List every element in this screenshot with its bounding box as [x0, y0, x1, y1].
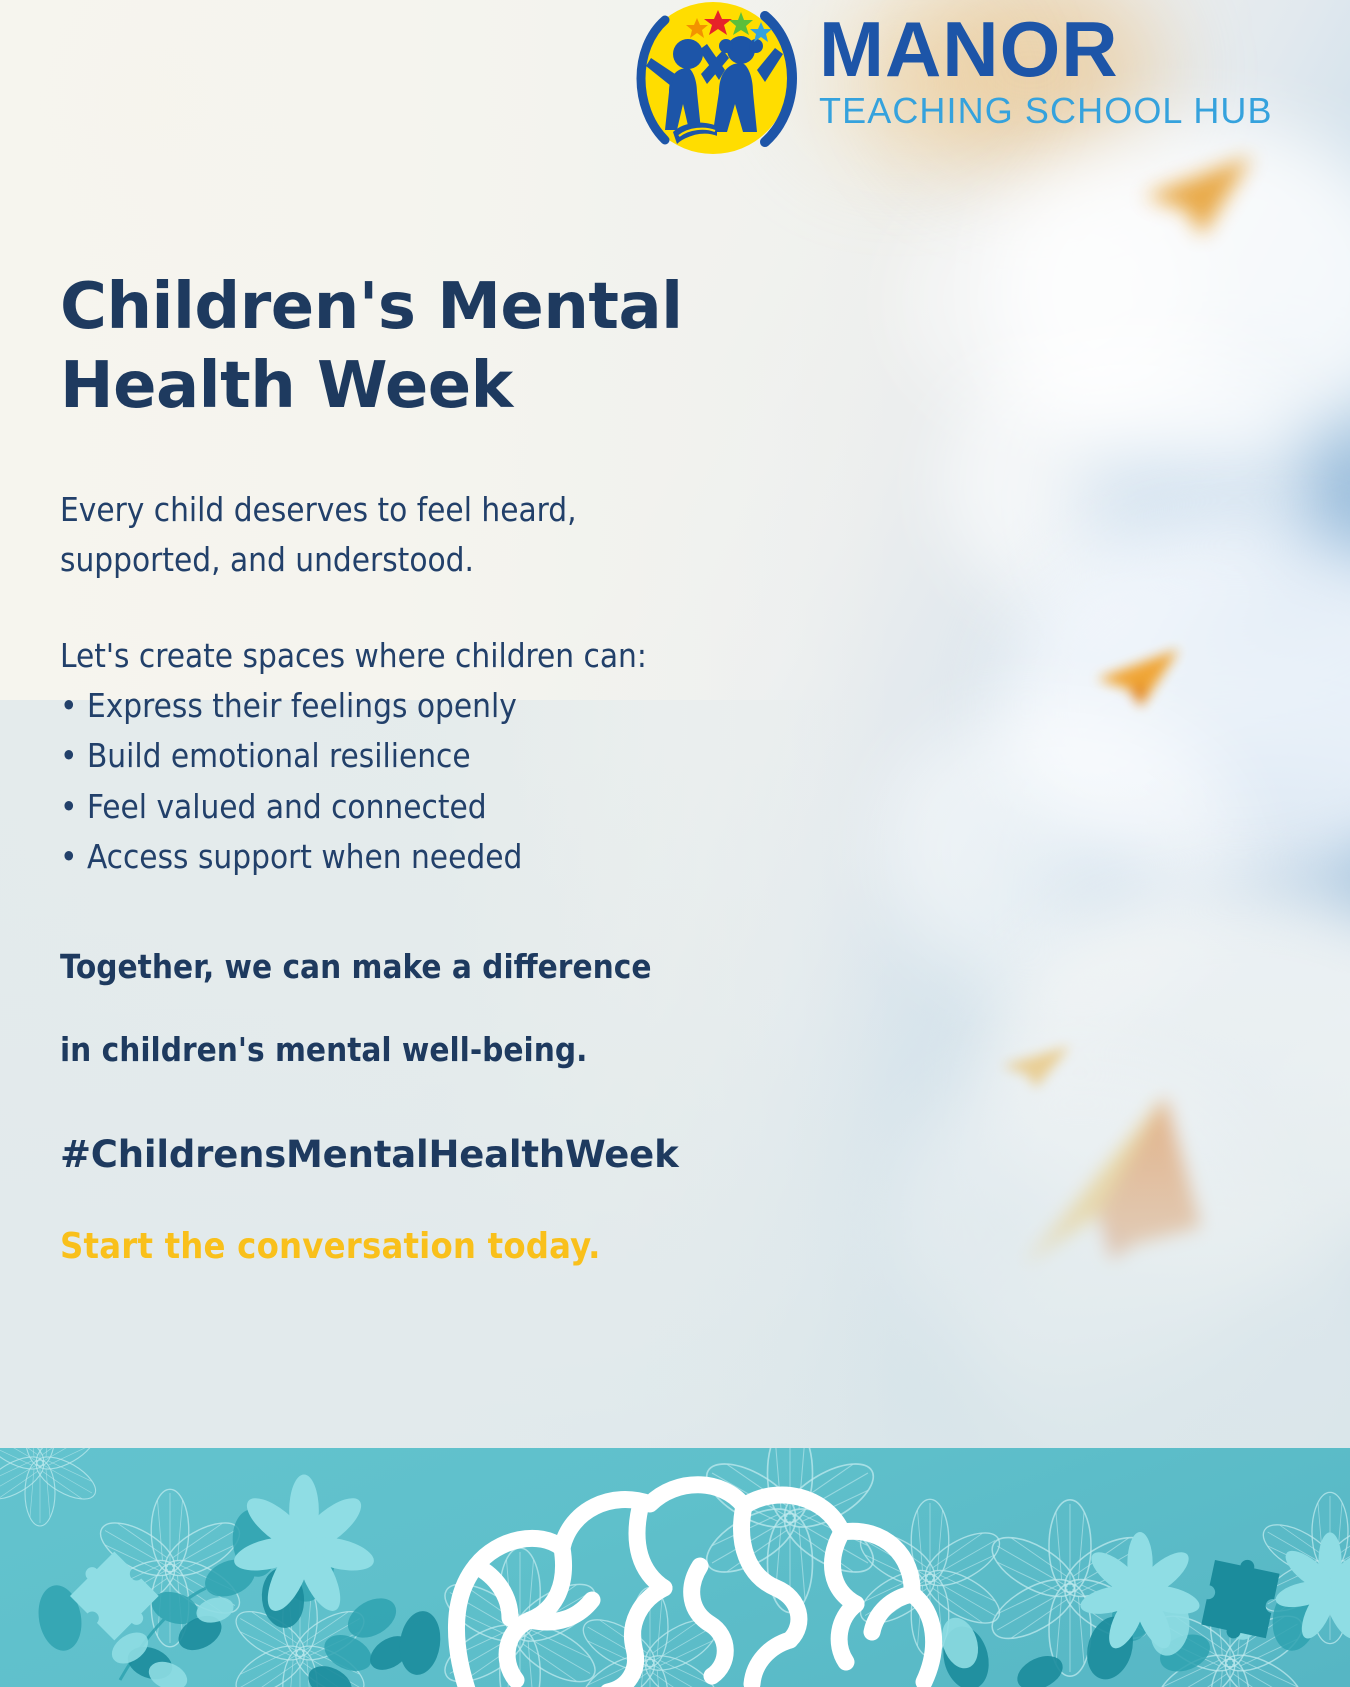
- prompt-line: Let's create spaces where children can:: [60, 631, 850, 681]
- brain-outline-icon: [456, 1485, 933, 1687]
- paper-plane-icon: [1140, 150, 1260, 245]
- paper-plane-icon: [1000, 1040, 1074, 1094]
- intro-line-1: Every child deserves to feel heard,: [60, 485, 850, 535]
- logo-wordmark: MANOR: [819, 12, 1273, 87]
- page-title: Children's Mental Health Week: [60, 268, 850, 427]
- poster-canvas: MANOR TEACHING SCHOOL HUB Children's Men…: [0, 0, 1350, 1687]
- intro-line-2: supported, and understood.: [60, 535, 850, 585]
- warm-glow-decor: [60, 40, 220, 160]
- call-to-action-text: Start the conversation today.: [60, 1226, 850, 1267]
- paragraph-spacer: [60, 585, 850, 631]
- manor-children-circle-logo-icon: [625, 0, 805, 155]
- paper-plane-icon: [1095, 645, 1185, 715]
- list-item: • Express their feelings openly: [60, 681, 850, 731]
- list-item: • Build emotional resilience: [60, 731, 850, 781]
- list-item: • Feel valued and connected: [60, 782, 850, 832]
- hashtag: #ChildrensMentalHealthWeek: [60, 1133, 850, 1176]
- poster-content: Children's Mental Health Week Every chil…: [60, 268, 850, 1267]
- paper-plane-icon: [1015, 1095, 1205, 1270]
- bottom-illustration-band: [0, 1448, 1350, 1687]
- emphasis-copy: Together, we can make a difference in ch…: [60, 942, 850, 1075]
- list-item: • Access support when needed: [60, 832, 850, 882]
- brand-logo[interactable]: MANOR TEACHING SCHOOL HUB: [625, 0, 1350, 160]
- body-copy: Every child deserves to feel heard, supp…: [60, 485, 850, 882]
- puzzle-piece-icon: [1200, 1553, 1281, 1645]
- logo-subtitle: TEACHING SCHOOL HUB: [819, 93, 1273, 129]
- emphasis-line-2: in children's mental well-being.: [60, 1025, 850, 1075]
- brain-foliage-illustration: [0, 1448, 1350, 1687]
- emphasis-line-1: Together, we can make a difference: [60, 942, 850, 992]
